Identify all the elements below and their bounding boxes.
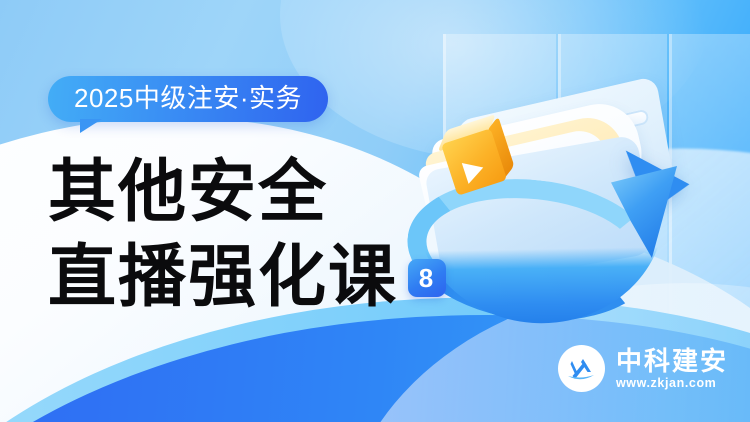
brand-name: 中科建安 — [616, 348, 728, 374]
headline-line-1-text: 其他安全 — [48, 154, 328, 230]
headline-line-2: 直播强化课 8 — [48, 243, 446, 312]
episode-number-badge: 8 — [408, 259, 446, 297]
brand-text: 中科建安 www.zkjan.com — [616, 348, 728, 390]
logo-mark-icon — [558, 345, 605, 392]
headline: 其他安全 直播强化课 8 — [48, 158, 446, 313]
subject-badge-tail — [80, 119, 102, 133]
course-banner: 2025中级注安·实务 其他安全 直播强化课 8 中科建安 www.zkjan.… — [0, 0, 750, 422]
headline-line-1: 其他安全 — [48, 158, 446, 227]
play-triangle-icon — [462, 157, 487, 184]
brand-logo: 中科建安 www.zkjan.com — [558, 345, 728, 392]
illustration — [415, 88, 735, 338]
brand-url: www.zkjan.com — [616, 377, 728, 390]
subject-badge: 2025中级注安·实务 — [48, 76, 328, 122]
headline-line-2-text: 直播强化课 — [48, 243, 398, 312]
subject-badge-label: 2025中级注安·实务 — [48, 76, 328, 122]
